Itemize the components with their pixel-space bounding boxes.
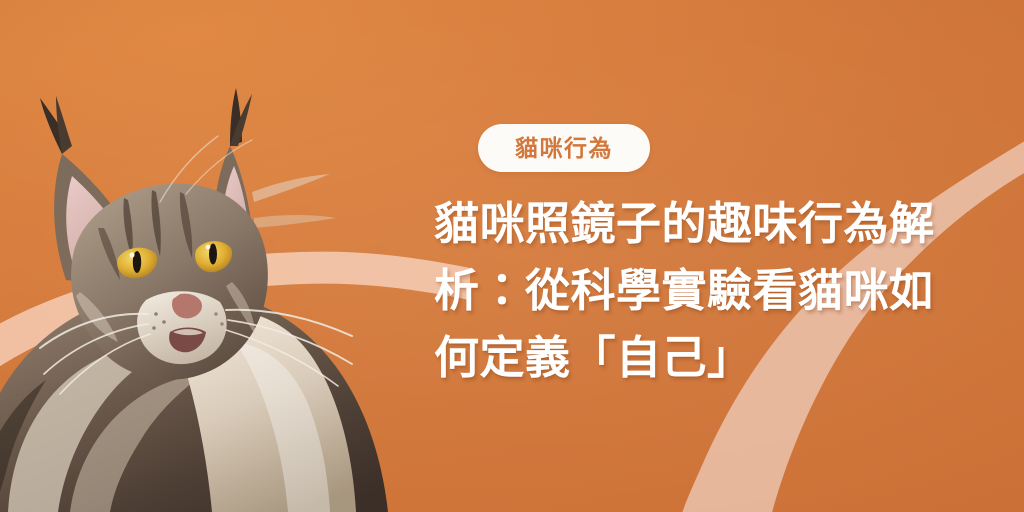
- category-badge[interactable]: 貓咪行為: [478, 124, 650, 172]
- content-column: 貓咪行為 貓咪照鏡子的趣味行為解 析：從科學實驗看貓咪如 何定義「自己」: [434, 0, 1024, 512]
- page-title-line-2: 析：從科學實驗看貓咪如: [434, 257, 1022, 324]
- page-title-line-3: 何定義「自己」: [434, 324, 1022, 391]
- banner-root: 貓咪行為 貓咪照鏡子的趣味行為解 析：從科學實驗看貓咪如 何定義「自己」: [0, 0, 1024, 512]
- page-title-line-1: 貓咪照鏡子的趣味行為解: [434, 190, 1022, 257]
- category-badge-label: 貓咪行為: [515, 137, 613, 160]
- cat-photo: [0, 42, 460, 512]
- page-title: 貓咪照鏡子的趣味行為解 析：從科學實驗看貓咪如 何定義「自己」: [434, 190, 1022, 391]
